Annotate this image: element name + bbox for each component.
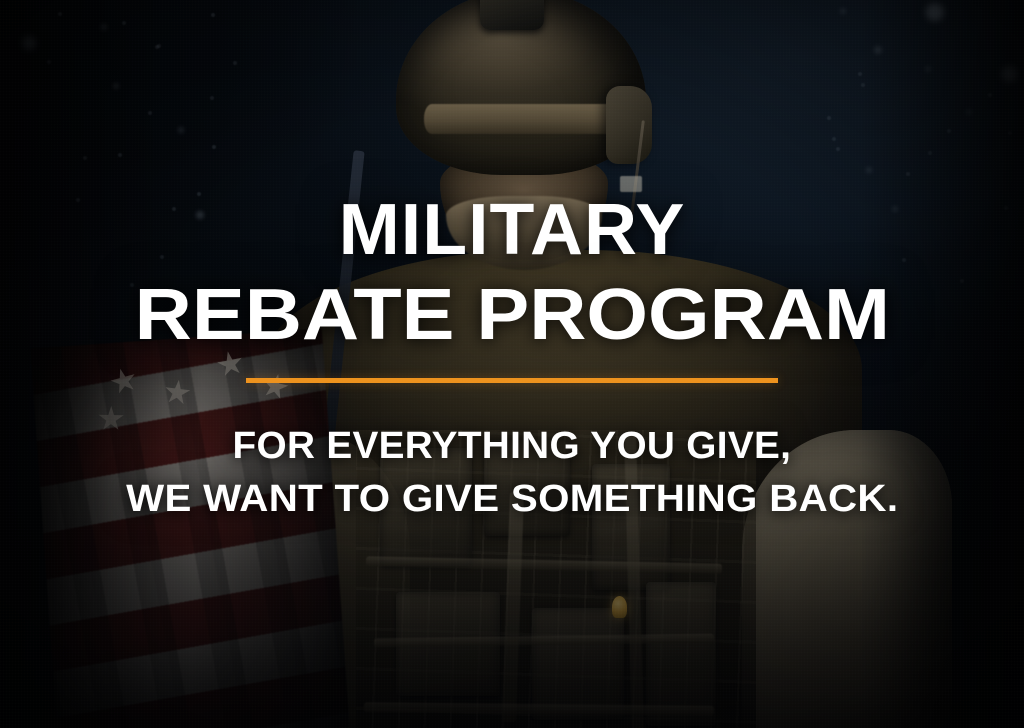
military-rebate-hero-banner: MILITARY REBATE PROGRAM FOR EVERYTHING Y… (0, 0, 1024, 728)
accent-divider-rule (246, 378, 778, 383)
headline-line-2: REBATE PROGRAM (134, 281, 889, 350)
banner-text-block: MILITARY REBATE PROGRAM FOR EVERYTHING Y… (0, 0, 1024, 728)
headline-line-1: MILITARY (339, 196, 686, 265)
subheadline-line-1: FOR EVERYTHING YOU GIVE, (233, 423, 792, 469)
subheadline-line-2: WE WANT TO GIVE SOMETHING BACK. (126, 476, 898, 522)
